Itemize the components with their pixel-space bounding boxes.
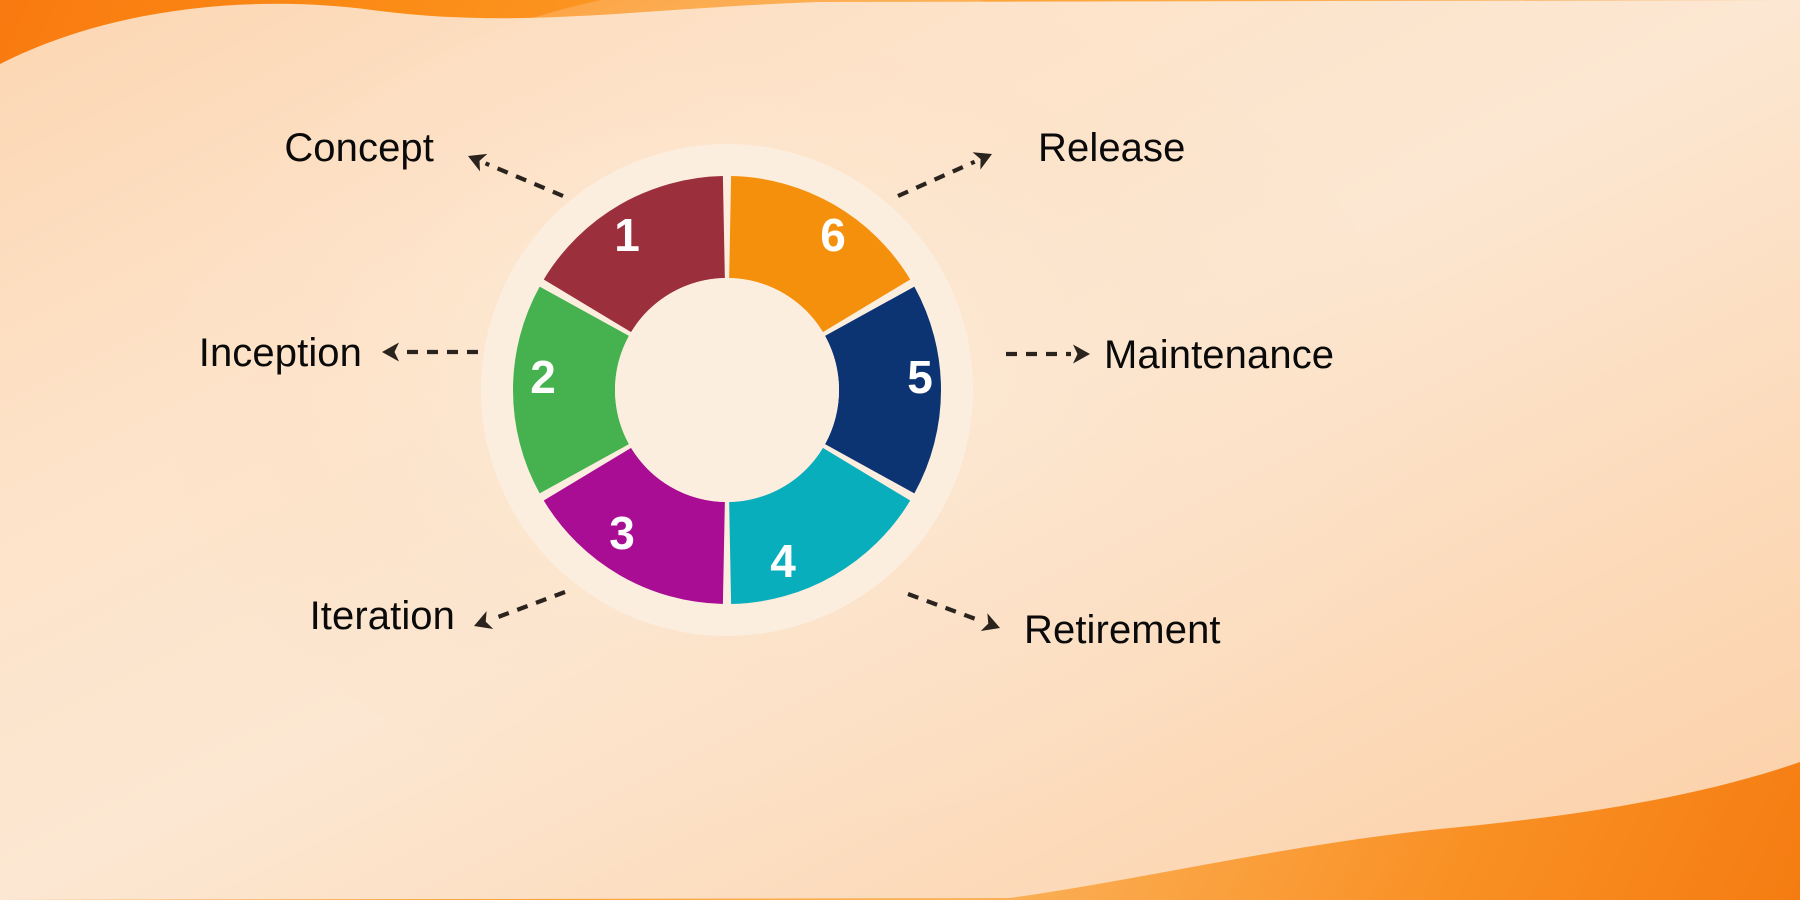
arrow-head-iteration [474, 611, 493, 629]
label-maintenance: Maintenance [1104, 335, 1334, 375]
segment-number-1: 1 [614, 212, 640, 258]
segment-number-2: 2 [530, 354, 556, 400]
arrow-head-concept [468, 154, 487, 172]
arrow-head-release [973, 152, 992, 169]
arrow-line-concept [486, 163, 563, 196]
segment-number-6: 6 [820, 212, 846, 258]
segment-number-4: 4 [770, 538, 796, 584]
arrow-line-release [898, 162, 975, 196]
arrow-line-iteration [492, 592, 565, 619]
donut-hub [615, 278, 839, 502]
segment-number-5: 5 [907, 354, 933, 400]
label-retirement: Retirement [1024, 610, 1221, 650]
label-inception: Inception [199, 333, 362, 373]
arrow-head-retirement [981, 613, 1000, 631]
arrow-head-maintenance [1073, 345, 1090, 364]
label-iteration: Iteration [310, 596, 455, 636]
cycle-donut-chart [0, 0, 1800, 900]
arrow-head-inception [382, 343, 399, 362]
diagram-stage: 1 2 3 4 5 6 Concept Inception Iteration … [0, 0, 1800, 900]
label-concept: Concept [284, 128, 434, 168]
arrow-line-retirement [908, 594, 982, 621]
label-release: Release [1038, 128, 1185, 168]
segment-number-3: 3 [609, 510, 635, 556]
